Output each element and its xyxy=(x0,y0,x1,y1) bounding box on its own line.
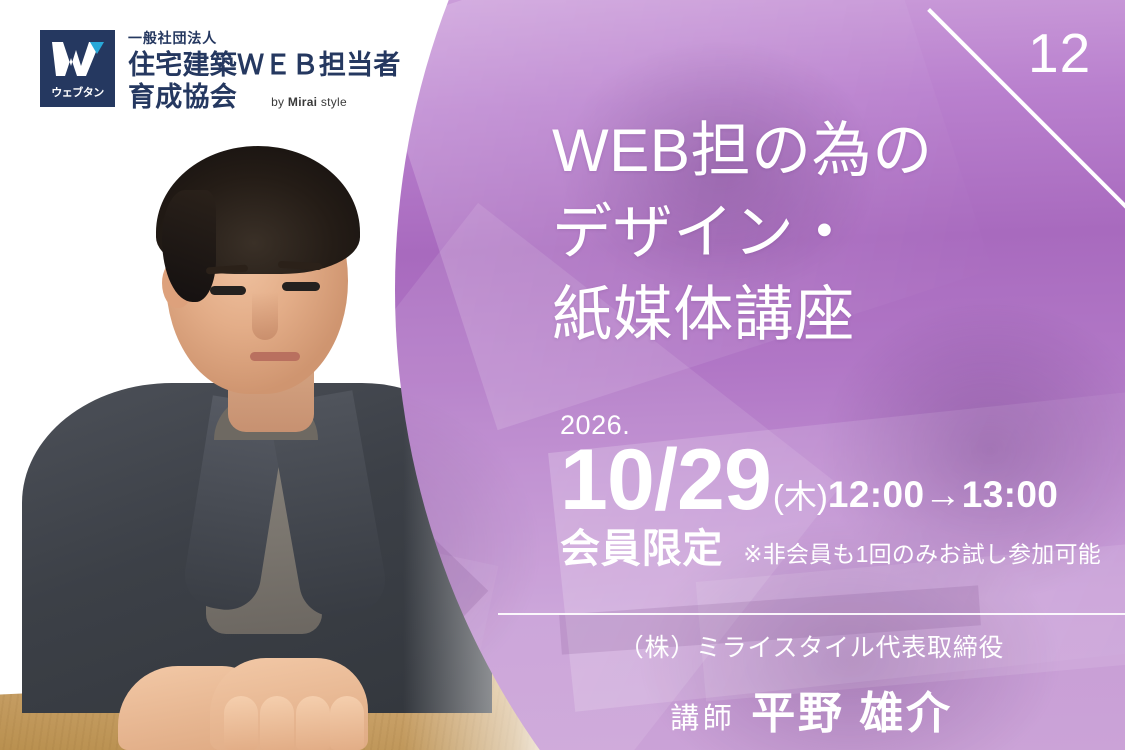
organization-logo: ウェブタン 一般社団法人 住宅建築ＷＥＢ担当者 育成協会 by Mirai st… xyxy=(40,30,401,113)
logo-by-suffix: style xyxy=(317,95,347,109)
speaker-label: 講師 xyxy=(670,695,735,737)
logo-main-line-2-row: 育成協会 by Mirai style xyxy=(128,82,401,114)
schedule-date-row: 10/29 (木) 12:00→13:00 xyxy=(560,441,1101,521)
logo-byline: by Mirai style xyxy=(271,95,347,113)
schedule-time-range: 12:00→13:00 xyxy=(828,476,1058,521)
logo-by-prefix: by xyxy=(271,95,288,109)
logo-main-line-1: 住宅建築ＷＥＢ担当者 xyxy=(128,50,401,82)
title-line-1: WEB担の為の xyxy=(552,110,1112,192)
access-row: 会員限定 ※非会員も1回のみお試し参加可能 xyxy=(560,529,1101,569)
title-line-3: 紙媒体講座 xyxy=(552,274,1112,356)
logo-wordmark: 一般社団法人 住宅建築ＷＥＢ担当者 育成協会 by Mirai style xyxy=(128,30,401,113)
seminar-title: WEB担の為の デザイン・ 紙媒体講座 xyxy=(552,110,1112,357)
access-label: 会員限定 xyxy=(560,529,723,569)
title-line-2: デザイン・ xyxy=(552,192,1112,274)
schedule-day-of-week: (木) xyxy=(771,480,828,521)
issue-number-badge: 12 xyxy=(1028,26,1091,81)
access-note: ※非会員も1回のみお試し参加可能 xyxy=(743,543,1101,566)
schedule-date: 10/29 xyxy=(560,441,771,521)
logo-mark: ウェブタン xyxy=(40,30,115,107)
speaker-name-row: 講師 平野 雄介 xyxy=(498,677,1125,741)
speaker-role: （株）ミライスタイル代表取締役 xyxy=(498,636,1125,661)
speaker-block: （株）ミライスタイル代表取締役 講師 平野 雄介 xyxy=(498,636,1125,741)
seminar-banner: 12 WEB担の為の デザイン・ 紙媒体講座 2026. 10/29 (木) 1… xyxy=(0,0,1125,750)
section-divider xyxy=(498,613,1125,615)
logo-kicker: 一般社団法人 xyxy=(128,31,401,45)
schedule-block: 2026. 10/29 (木) 12:00→13:00 会員限定 ※非会員も1回… xyxy=(560,412,1101,569)
speaker-name: 平野 雄介 xyxy=(751,677,952,741)
logo-main-line-2: 育成協会 xyxy=(128,82,237,114)
logo-mark-label: ウェブタン xyxy=(40,84,115,100)
logo-by-brand: Mirai xyxy=(288,95,317,109)
logo-main: 住宅建築ＷＥＢ担当者 育成協会 by Mirai style xyxy=(128,50,401,113)
w-letter-icon xyxy=(52,42,104,76)
